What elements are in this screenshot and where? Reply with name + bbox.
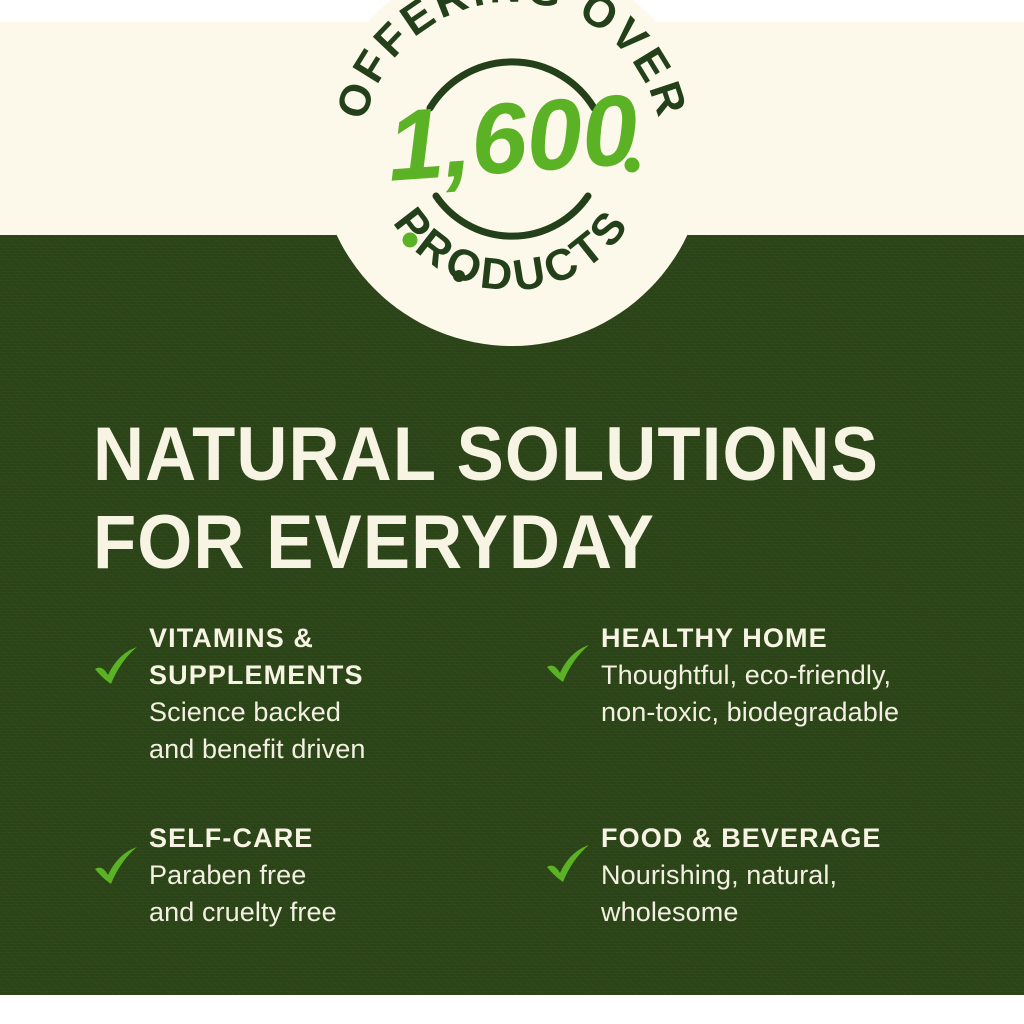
badge-inner-arc-bottom	[436, 196, 588, 236]
feature-text: VITAMINS & SUPPLEMENTS Science backed an…	[149, 620, 545, 768]
feature-title: FOOD & BEVERAGE	[601, 820, 993, 857]
badge-number: 1,600	[384, 73, 641, 202]
feature-title: HEALTHY HOME	[601, 620, 993, 657]
feature-title: VITAMINS & SUPPLEMENTS	[149, 620, 545, 694]
check-icon	[545, 844, 595, 884]
badge-dot-left	[403, 233, 418, 248]
feature-text: SELF-CARE Paraben free and cruelty free	[149, 820, 545, 931]
feature-description: Science backed and benefit driven	[149, 694, 545, 768]
feature-food-beverage: FOOD & BEVERAGE Nourishing, natural, who…	[545, 820, 993, 931]
feature-self-care: SELF-CARE Paraben free and cruelty free	[93, 820, 545, 931]
feature-title: SELF-CARE	[149, 820, 545, 857]
feature-text: FOOD & BEVERAGE Nourishing, natural, who…	[601, 820, 993, 931]
feature-vitamins-supplements: VITAMINS & SUPPLEMENTS Science backed an…	[93, 620, 545, 768]
feature-grid: VITAMINS & SUPPLEMENTS Science backed an…	[93, 620, 993, 931]
check-icon	[545, 644, 595, 684]
promo-poster: OFFERING OVER PRODUCTS 1,600 NATURAL SOL…	[0, 0, 1024, 1024]
feature-description: Thoughtful, eco-friendly, non-toxic, bio…	[601, 657, 993, 731]
page-title: NATURAL SOLUTIONS FOR EVERYDAY	[93, 411, 911, 587]
bottom-white-band	[0, 995, 1024, 1024]
feature-description: Nourishing, natural, wholesome	[601, 857, 993, 931]
product-count-badge: OFFERING OVER PRODUCTS 1,600	[318, 0, 706, 346]
badge-arc-bottom-text: PRODUCTS	[384, 199, 640, 301]
check-icon	[93, 646, 143, 686]
feature-text: HEALTHY HOME Thoughtful, eco-friendly, n…	[601, 620, 993, 731]
check-icon	[93, 846, 143, 886]
feature-healthy-home: HEALTHY HOME Thoughtful, eco-friendly, n…	[545, 620, 993, 768]
feature-description: Paraben free and cruelty free	[149, 857, 545, 931]
badge-dot-lower-left	[453, 270, 465, 282]
